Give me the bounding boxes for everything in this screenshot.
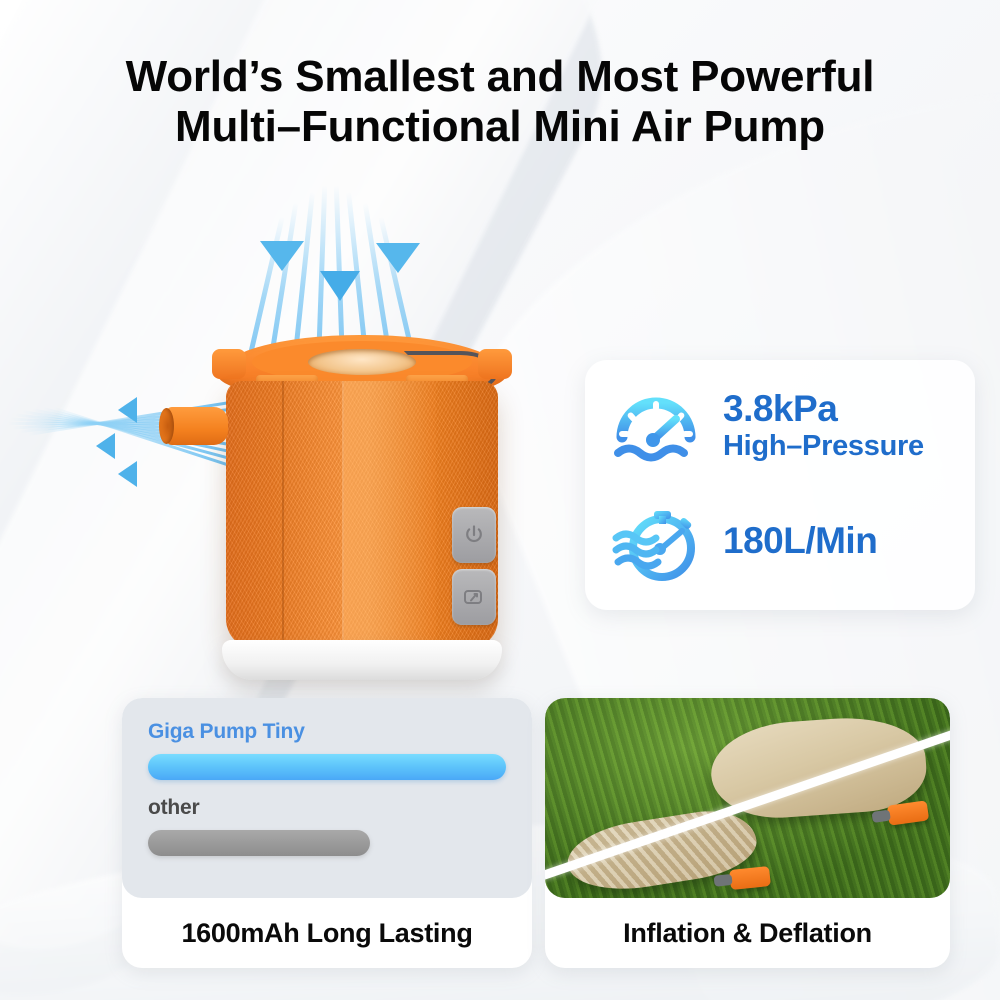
battery-comparison-card: Giga Pump Tiny other 1600mAh Long Lastin…: [122, 698, 532, 968]
bar-label-other: other: [148, 796, 506, 820]
bar-track-giga-pump: [148, 754, 506, 780]
arrow-down-icon: [376, 243, 420, 273]
spec-value: 180L/Min: [723, 521, 877, 562]
light-icon: [462, 586, 486, 608]
spec-text-flow: 180L/Min: [723, 521, 877, 562]
bar-fill-giga-pump: [148, 754, 506, 780]
bar-label-giga-pump: Giga Pump Tiny: [148, 720, 506, 744]
bar-track-other: [148, 830, 506, 856]
arrow-left-icon: [96, 433, 115, 459]
pump-ear-left: [212, 349, 246, 379]
specifications-card: 3.8kPa High–Pressure: [585, 360, 975, 610]
battery-chart-panel: Giga Pump Tiny other: [122, 698, 532, 898]
pump-nozzle: [166, 407, 228, 445]
arrow-left-icon: [118, 461, 137, 487]
pump-ear-right: [478, 349, 512, 379]
spec-row-pressure: 3.8kPa High–Pressure: [585, 387, 975, 467]
product-photo: [545, 698, 950, 898]
mini-pump-deflated: [729, 866, 771, 890]
arrow-left-icon: [118, 397, 137, 423]
pump-nozzle-opening: [159, 408, 174, 444]
inflation-deflation-card: Inflation & Deflation: [545, 698, 950, 968]
arrow-down-icon: [320, 271, 360, 301]
page-title: World’s Smallest and Most Powerful Multi…: [0, 52, 1000, 152]
power-button[interactable]: [452, 507, 496, 563]
product-image: [0, 175, 560, 695]
pump-base: [222, 640, 502, 680]
headline-line-1: World’s Smallest and Most Powerful: [126, 52, 875, 101]
pressure-gauge-icon: [607, 387, 705, 467]
photo-card-caption: Inflation & Deflation: [545, 898, 950, 968]
stopwatch-airflow-icon: [607, 500, 705, 584]
product-marketing-page: World’s Smallest and Most Powerful Multi…: [0, 0, 1000, 1000]
power-icon: [462, 523, 486, 547]
air-pump-device: [212, 335, 512, 680]
bar-spacer: [148, 780, 506, 796]
spec-value: 3.8kPa: [723, 389, 924, 430]
headline-line-2: Multi–Functional Mini Air Pump: [0, 102, 1000, 152]
pump-seam: [282, 381, 284, 649]
pump-front-face: [344, 381, 436, 649]
arrow-down-icon: [260, 241, 304, 271]
pump-intake-port: [308, 349, 416, 375]
light-button[interactable]: [452, 569, 496, 625]
bar-fill-other: [148, 830, 370, 856]
pump-seam: [342, 381, 344, 649]
pump-control-buttons: [452, 507, 496, 625]
battery-card-caption: 1600mAh Long Lasting: [122, 898, 532, 968]
spec-text-pressure: 3.8kPa High–Pressure: [723, 389, 924, 463]
spec-label: High–Pressure: [723, 430, 924, 463]
spec-row-flow: 180L/Min: [585, 500, 975, 584]
